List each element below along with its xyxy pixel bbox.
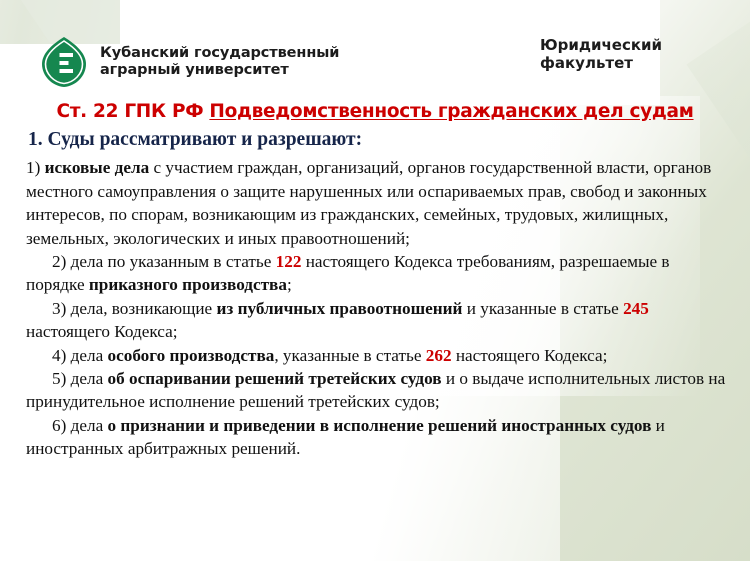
item-text: , указанные в статье <box>274 346 425 365</box>
emphasis-term: исковые дела <box>45 158 150 177</box>
emphasis-term: приказного производства <box>89 275 287 294</box>
slide-header: Кубанский государственный аграрный униве… <box>0 0 750 100</box>
item-text: 4) дела <box>52 346 108 365</box>
item-text: и указанные в статье <box>462 299 623 318</box>
item-text: 5) дела <box>52 369 108 388</box>
article-number: 122 <box>276 252 302 271</box>
emphasis-term: о признании и приведении в исполнение ре… <box>108 416 652 435</box>
slide-title: Ст. 22 ГПК РФ Подведомственность граждан… <box>0 101 750 122</box>
legal-items-list: 1) исковые дела с участием граждан, орга… <box>26 156 726 460</box>
emphasis-term: из публичных правоотношений <box>216 299 462 318</box>
item-text: 2) дела по указанным в статье <box>52 252 276 271</box>
item-text: настоящего Кодекса; <box>26 322 178 341</box>
item-text: 6) дела <box>52 416 108 435</box>
article-number: 262 <box>426 346 452 365</box>
emphasis-term: особого производства <box>108 346 275 365</box>
slide-body: 1. Суды рассматривают и разрешают: 1) ис… <box>26 128 726 460</box>
legal-item: 1) исковые дела с участием граждан, орга… <box>26 156 726 250</box>
item-text: ; <box>287 275 292 294</box>
item-text: 3) дела, возникающие <box>52 299 216 318</box>
legal-item: 6) дела о признании и приведении в испол… <box>26 414 726 461</box>
university-name: Кубанский государственный аграрный униве… <box>100 45 339 79</box>
faculty-name: Юридический факультет <box>540 36 662 72</box>
legal-item: 4) дела особого производства, указанные … <box>26 344 726 367</box>
item-text: настоящего Кодекса; <box>452 346 608 365</box>
kubsau-leaf-shield-logo-icon <box>40 36 88 88</box>
item-text: 1) <box>26 158 45 177</box>
title-underlined-part: Подведомственность гражданских дел судам <box>209 101 693 122</box>
legal-item: 5) дела об оспаривании решений третейски… <box>26 367 726 414</box>
emphasis-term: об оспаривании решений третейских судов <box>108 369 442 388</box>
body-subtitle: 1. Суды рассматривают и разрешают: <box>28 128 726 152</box>
legal-item: 3) дела, возникающие из публичных правоо… <box>26 297 726 344</box>
article-number: 245 <box>623 299 649 318</box>
title-prefix: Ст. 22 ГПК РФ <box>56 101 209 122</box>
presentation-slide: Кубанский государственный аграрный униве… <box>0 0 750 561</box>
university-brand: Кубанский государственный аграрный униве… <box>40 36 339 88</box>
legal-item: 2) дела по указанным в статье 122 настоя… <box>26 250 726 297</box>
